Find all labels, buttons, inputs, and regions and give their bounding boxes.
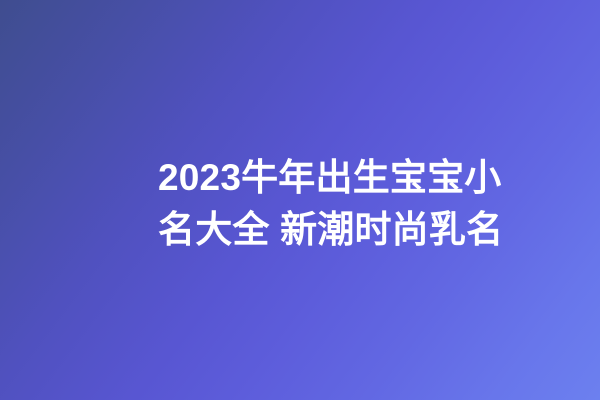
page-title: 2023牛年出生宝宝小 名大全 新潮时尚乳名 (158, 152, 458, 256)
title-banner: 2023牛年出生宝宝小 名大全 新潮时尚乳名 (0, 0, 600, 400)
title-line-1: 2023牛年出生宝宝小 (158, 152, 458, 204)
title-line-2: 名大全 新潮时尚乳名 (158, 204, 458, 256)
